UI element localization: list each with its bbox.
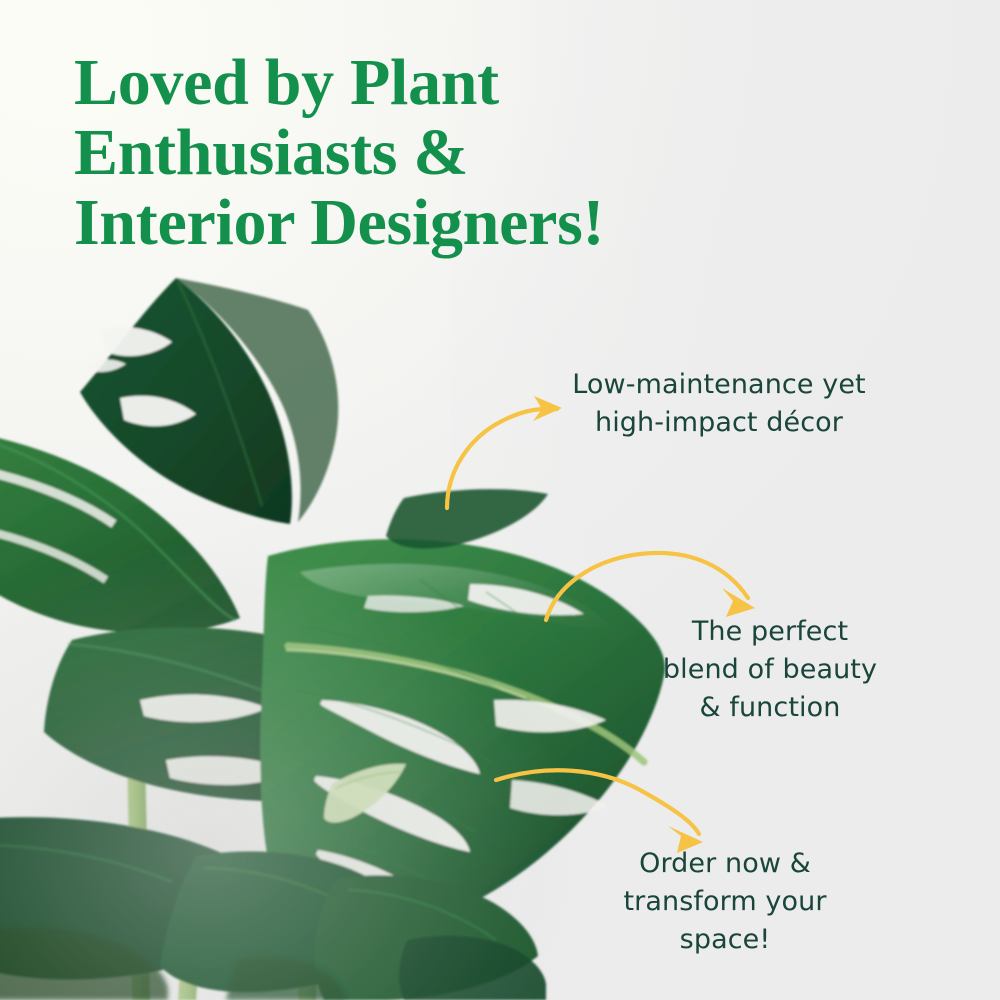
plant-stems — [125, 560, 424, 1000]
leaf-new-shoot — [324, 764, 406, 823]
promo-poster: Loved by Plant Enthusiasts & Interior De… — [0, 0, 1000, 1000]
page-title: Loved by Plant Enthusiasts & Interior De… — [74, 48, 794, 258]
callout-beauty-function: The perfect blend of beauty & function — [650, 613, 890, 727]
leaf-center-mid — [44, 627, 462, 801]
background-floor-shadow — [0, 540, 580, 1000]
leaf-lower-far-right — [399, 936, 546, 1000]
leaf-right-tip — [386, 489, 548, 549]
arrow-1-head — [533, 396, 562, 421]
callout-order-now: Order now & transform your space! — [600, 845, 850, 959]
arrow-2-shaft — [546, 553, 748, 620]
arrow-3-shaft — [496, 770, 699, 834]
leaf-lower-right — [314, 875, 538, 1000]
arrow-1-shaft — [447, 409, 557, 508]
leaf-lower-center — [160, 851, 420, 992]
leaf-left-fan — [0, 430, 240, 633]
leaf-lower-left — [0, 817, 292, 979]
leaf-background-blurred — [0, 926, 346, 1000]
callout-low-maintenance: Low-maintenance yet high-impact décor — [560, 366, 878, 442]
leaf-upper-left — [80, 278, 338, 524]
